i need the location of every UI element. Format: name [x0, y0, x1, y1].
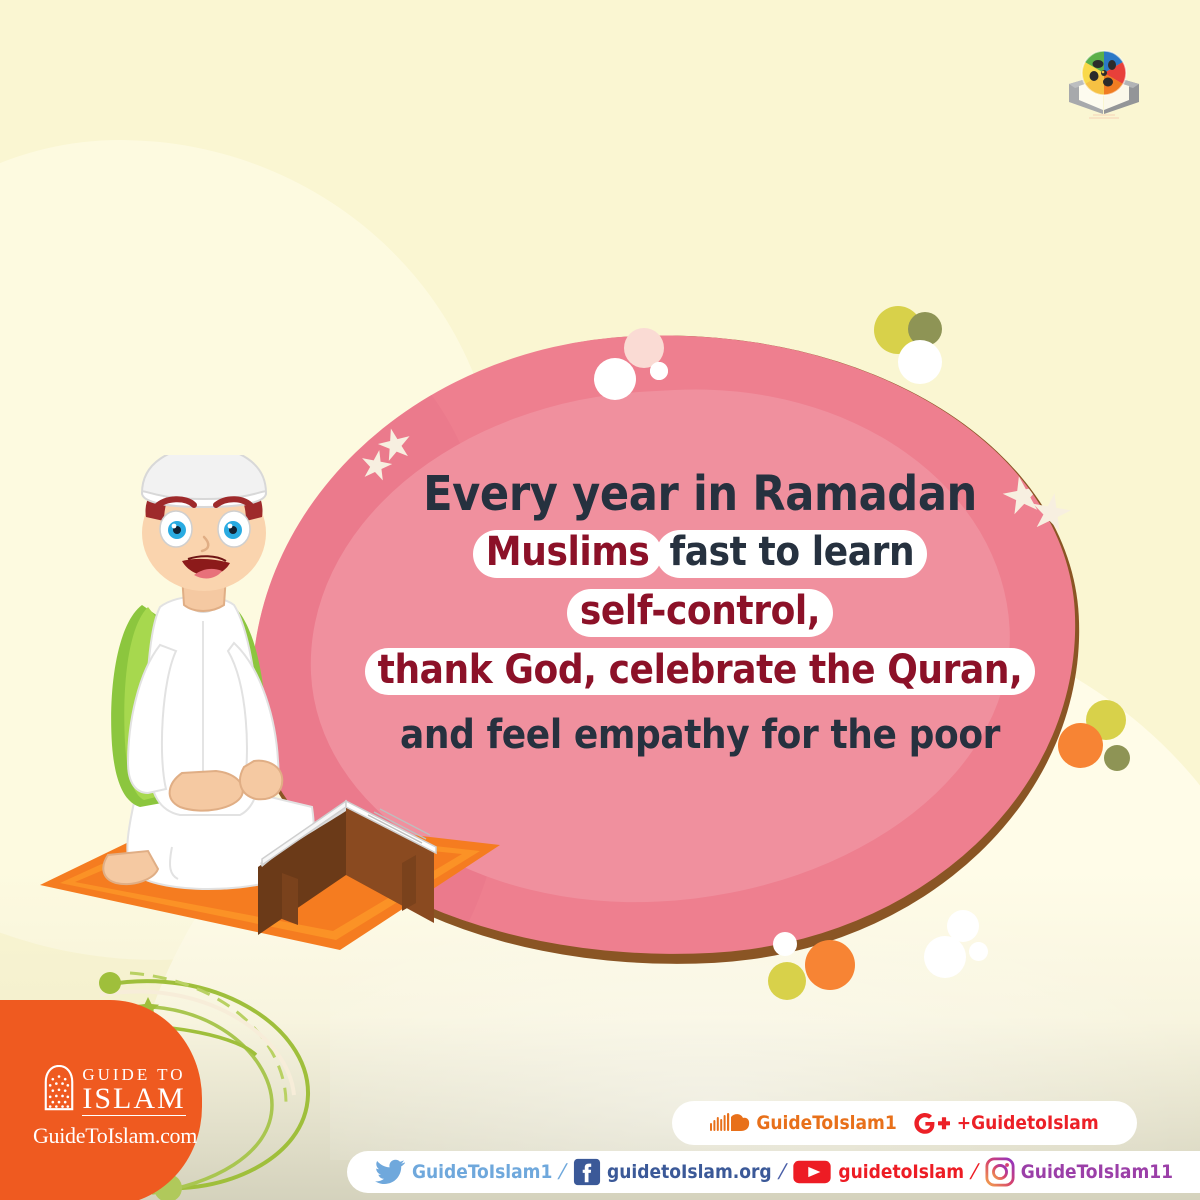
globe-book-logo[interactable]	[1063, 40, 1145, 120]
google-plus-icon	[911, 1110, 951, 1136]
headline-highlight-selfcontrol: self-control,	[567, 589, 833, 637]
mosque-arch-icon	[44, 1065, 74, 1116]
social-link-google-plus[interactable]: +GuidetoIslam	[911, 1110, 1099, 1136]
social-link-youtube[interactable]: guidetoIslam	[792, 1158, 964, 1186]
logo-text-block: GUIDE TO ISLAM GuideToIslam.com	[30, 1065, 200, 1149]
twitter-icon	[374, 1158, 406, 1186]
social-label-facebook: guidetoIslam.org	[607, 1161, 772, 1183]
left-hand	[170, 771, 243, 811]
social-bar-primary: GuideToIslam1 / guidetoIslam.org / guide…	[347, 1151, 1200, 1193]
decor-dot-yellow	[768, 962, 806, 1000]
youtube-icon	[792, 1158, 832, 1186]
right-hand	[240, 761, 282, 800]
decor-dot-white	[594, 358, 636, 400]
facebook-icon	[573, 1158, 601, 1186]
social-label-instagram: GuideToIslam11	[1021, 1161, 1173, 1183]
instagram-icon	[985, 1157, 1015, 1187]
social-separator: /	[968, 1159, 980, 1186]
decor-dot-orange	[805, 940, 855, 990]
social-link-soundcloud[interactable]: GuideToIslam1	[710, 1112, 896, 1134]
social-label-twitter: GuideToIslam1	[412, 1161, 552, 1183]
social-link-twitter[interactable]: GuideToIslam1	[374, 1158, 552, 1186]
decor-dot-white-small	[969, 942, 988, 961]
headline-line-2-rest: fast to learn	[656, 530, 927, 578]
decor-dot-white	[773, 932, 797, 956]
social-link-instagram[interactable]: GuideToIslam11	[985, 1157, 1173, 1187]
social-separator: /	[556, 1159, 568, 1186]
boy-praying-illustration	[30, 455, 530, 985]
decor-dot-white	[924, 936, 966, 978]
social-label-google-plus: +GuidetoIslam	[957, 1112, 1099, 1134]
decor-dot-white	[898, 340, 942, 384]
decor-dot-white-small	[650, 362, 668, 380]
decor-dot-olive	[1104, 745, 1130, 771]
social-label-soundcloud: GuideToIslam1	[756, 1112, 896, 1134]
social-separator: /	[776, 1159, 788, 1186]
logo-line-islam: ISLAM	[82, 1085, 185, 1116]
logo-line-domain: GuideToIslam.com	[30, 1123, 200, 1149]
white-taqiyah-cap	[142, 455, 266, 507]
social-link-facebook[interactable]: guidetoIslam.org	[573, 1158, 772, 1186]
poster-canvas: Every year in Ramadan Muslimsfast to lea…	[0, 0, 1200, 1200]
social-label-youtube: guidetoIslam	[838, 1161, 964, 1183]
soundcloud-icon	[710, 1112, 750, 1134]
social-bar-secondary: GuideToIslam1 +GuidetoIslam	[672, 1101, 1137, 1145]
